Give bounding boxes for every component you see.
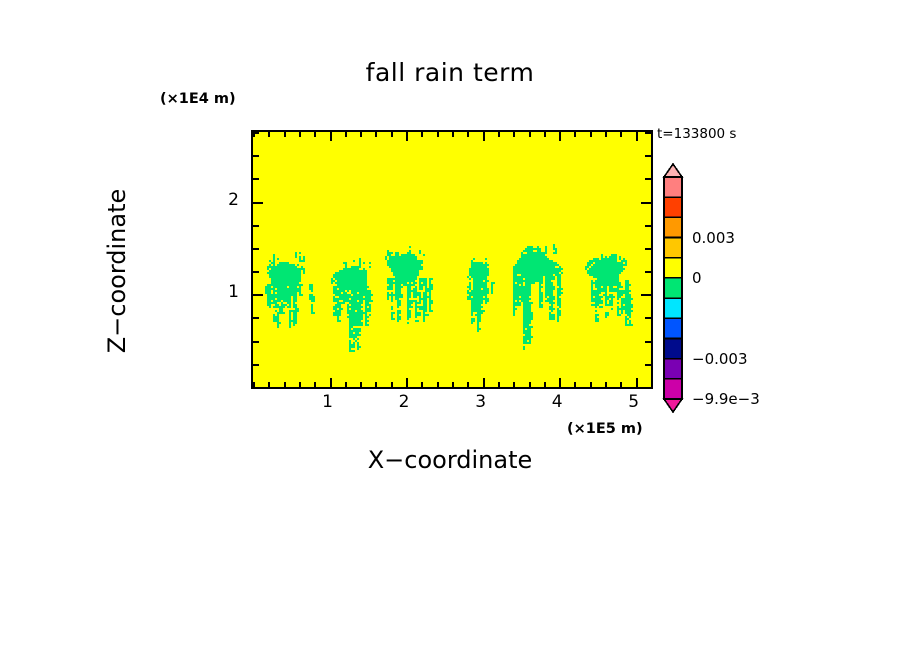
minor-tick	[253, 387, 259, 389]
colorbar-band-navy	[664, 338, 682, 358]
minor-tick	[574, 382, 576, 387]
major-tick	[406, 378, 408, 387]
minor-tick	[645, 248, 651, 250]
colorbar-band-blue	[664, 318, 682, 338]
colorbar-swatches	[662, 163, 684, 413]
y-axis-title: Z−coordinate	[103, 71, 131, 471]
minor-tick	[345, 382, 347, 387]
minor-tick	[253, 132, 259, 134]
x-tick-label: 3	[466, 392, 496, 412]
minor-tick	[268, 132, 270, 137]
minor-tick	[452, 382, 454, 387]
x-axis-unit-caption: (×1E5 m)	[567, 421, 643, 437]
minor-tick	[437, 132, 439, 137]
time-annotation: t=133800 s	[657, 126, 736, 142]
minor-tick	[253, 155, 259, 157]
minor-tick	[375, 382, 377, 387]
minor-tick	[645, 387, 651, 389]
x-tick-label: 1	[313, 392, 343, 412]
chart-title: fall rain term	[251, 58, 649, 87]
minor-tick	[360, 132, 362, 137]
x-tick-label: 4	[542, 392, 572, 412]
minor-tick	[284, 382, 286, 387]
minor-tick	[645, 341, 651, 343]
major-tick	[330, 132, 332, 141]
colorbar-band-cyan	[664, 298, 682, 318]
minor-tick	[253, 271, 259, 273]
minor-tick	[253, 248, 259, 250]
minor-tick	[645, 271, 651, 273]
minor-tick	[360, 382, 362, 387]
minor-tick	[645, 155, 651, 157]
minor-tick	[651, 382, 653, 387]
colorbar-label: −9.9e−3	[692, 390, 760, 408]
minor-tick	[529, 132, 531, 137]
minor-tick	[253, 178, 259, 180]
minor-tick	[253, 225, 259, 227]
colorbar-band-magenta	[664, 379, 682, 399]
colorbar-band-orange	[664, 217, 682, 237]
heatmap-field	[253, 132, 651, 387]
major-tick	[559, 378, 561, 387]
minor-tick	[645, 132, 651, 134]
minor-tick	[345, 132, 347, 137]
major-tick	[559, 132, 561, 141]
major-tick	[253, 294, 263, 296]
minor-tick	[375, 132, 377, 137]
minor-tick	[253, 317, 259, 319]
colorbar-bottom-arrow	[664, 399, 682, 412]
minor-tick	[605, 382, 607, 387]
colorbar-top-arrow	[664, 164, 682, 177]
minor-tick	[467, 132, 469, 137]
minor-tick	[645, 364, 651, 366]
major-tick	[483, 378, 485, 387]
minor-tick	[253, 341, 259, 343]
minor-tick	[544, 132, 546, 137]
colorbar-band-salmon	[664, 177, 682, 197]
colorbar-band-amber	[664, 238, 682, 258]
minor-tick	[590, 382, 592, 387]
minor-tick	[645, 317, 651, 319]
minor-tick	[437, 382, 439, 387]
minor-tick	[314, 382, 316, 387]
major-tick	[641, 294, 651, 296]
minor-tick	[299, 132, 301, 137]
minor-tick	[421, 132, 423, 137]
minor-tick	[620, 132, 622, 137]
minor-tick	[314, 132, 316, 137]
minor-tick	[498, 132, 500, 137]
major-tick	[636, 132, 638, 141]
minor-tick	[452, 132, 454, 137]
minor-tick	[391, 132, 393, 137]
minor-tick	[421, 382, 423, 387]
figure-canvas: fall rain term (×1E4 m) t=133800 s Z−coo…	[0, 0, 904, 654]
minor-tick	[498, 382, 500, 387]
colorbar	[662, 163, 684, 413]
minor-tick	[645, 225, 651, 227]
major-tick	[641, 202, 651, 204]
x-tick-label: 5	[619, 392, 649, 412]
major-tick	[636, 378, 638, 387]
x-axis-title: X−coordinate	[251, 446, 649, 474]
y-tick-label: 2	[213, 190, 239, 210]
minor-tick	[544, 382, 546, 387]
minor-tick	[620, 382, 622, 387]
plot-area	[251, 130, 653, 389]
minor-tick	[651, 132, 653, 137]
minor-tick	[467, 382, 469, 387]
minor-tick	[299, 382, 301, 387]
minor-tick	[284, 132, 286, 137]
colorbar-band-green	[664, 278, 682, 298]
y-tick-label: 1	[213, 282, 239, 302]
major-tick	[330, 378, 332, 387]
colorbar-band-yellow	[664, 258, 682, 278]
minor-tick	[513, 132, 515, 137]
minor-tick	[605, 132, 607, 137]
y-axis-unit-caption: (×1E4 m)	[160, 91, 236, 107]
colorbar-label: 0	[692, 269, 702, 287]
major-tick	[483, 132, 485, 141]
colorbar-label: 0.003	[692, 229, 735, 247]
colorbar-band-purple	[664, 359, 682, 379]
minor-tick	[645, 178, 651, 180]
minor-tick	[529, 382, 531, 387]
minor-tick	[268, 382, 270, 387]
minor-tick	[391, 382, 393, 387]
major-tick	[253, 202, 263, 204]
colorbar-band-orange-red	[664, 197, 682, 217]
minor-tick	[590, 132, 592, 137]
minor-tick	[513, 382, 515, 387]
minor-tick	[574, 132, 576, 137]
colorbar-label: −0.003	[692, 350, 748, 368]
major-tick	[406, 132, 408, 141]
minor-tick	[253, 364, 259, 366]
x-tick-label: 2	[389, 392, 419, 412]
